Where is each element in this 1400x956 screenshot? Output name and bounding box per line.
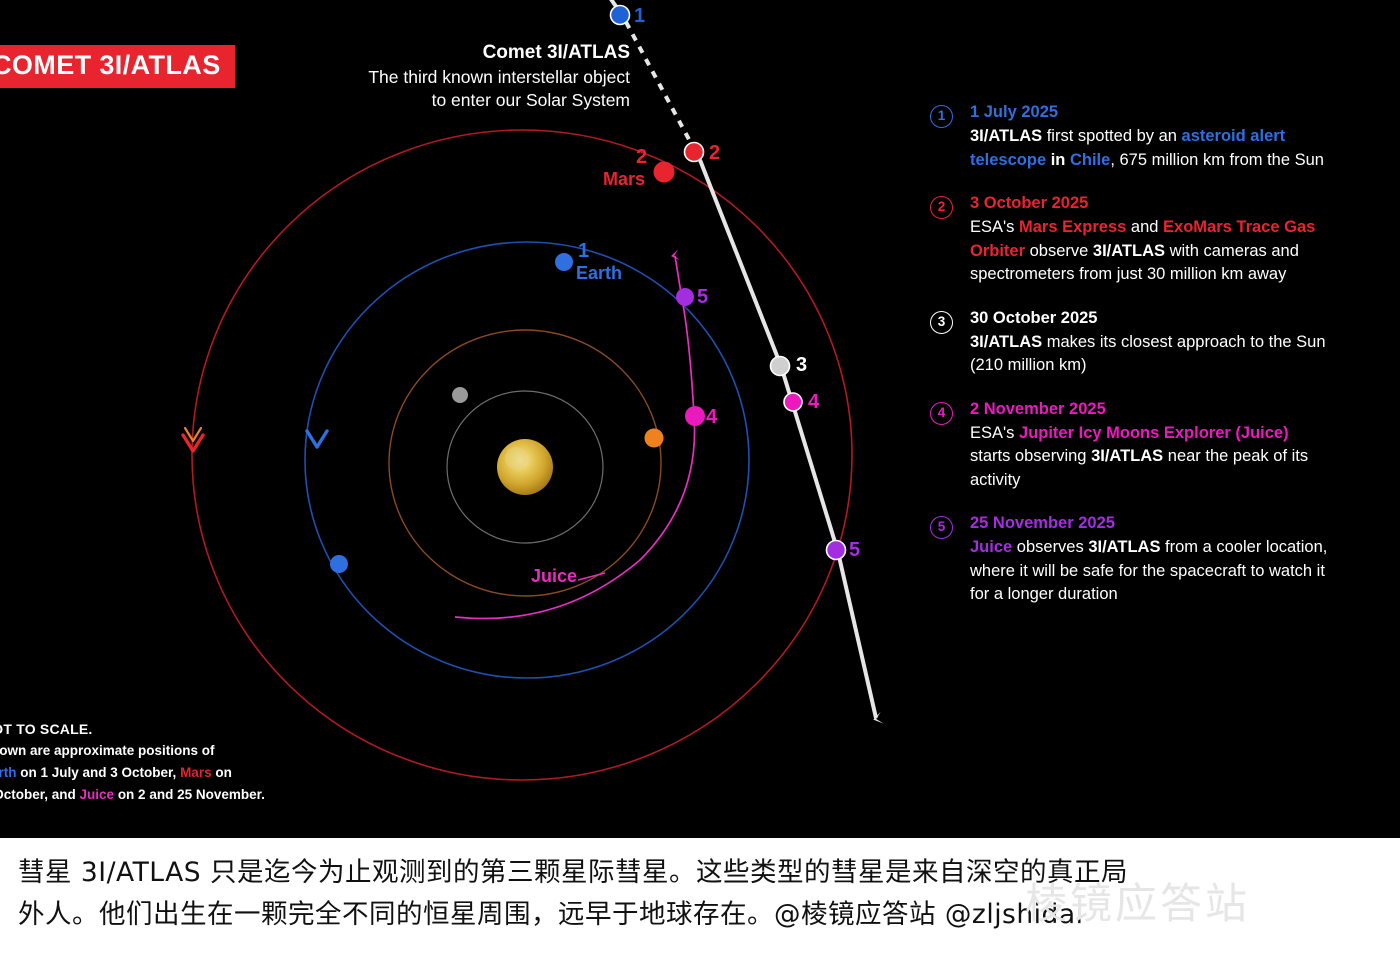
comet-marker-4: [784, 393, 802, 411]
earth-position-3-october: [330, 555, 348, 573]
comet-marker-2: [685, 143, 704, 162]
juice-position-2-november: [685, 406, 705, 426]
comet-marker-5: [827, 541, 846, 560]
comet-marker-number-3: 3: [796, 354, 807, 377]
timeline-entry-4: 42 November 2025ESA's Jupiter Icy Moons …: [930, 397, 1330, 493]
mars-marker-number: 2: [636, 146, 647, 169]
timeline-badge-5: 5: [930, 516, 953, 539]
earth-marker-number: 1: [578, 240, 589, 263]
comet-marker-3: [771, 357, 790, 376]
bottom-caption: 彗星 3I/ATLAS 只是迄今为止观测到的第三颗星际彗星。这些类型的彗星是来自…: [0, 838, 1400, 956]
timeline-entry-3: 330 October 20253I/ATLAS makes its close…: [930, 306, 1330, 378]
timeline-panel: 11 July 20253I/ATLAS first spotted by an…: [930, 100, 1330, 626]
footnote-mars: Mars: [180, 765, 212, 780]
earth-direction-chevron: [307, 431, 327, 447]
venus: [645, 429, 664, 448]
comet-path-solid: [700, 160, 876, 718]
juice-label: Juice: [531, 566, 577, 587]
infographic-root: COMET 3I/ATLAS Comet 3I/ATLAS The third …: [0, 0, 1400, 956]
footnote-line3-mid: on 1 July and 3 October,: [17, 765, 181, 780]
earth-position-1-july: [555, 253, 573, 271]
footnote-juice: Juice: [80, 787, 115, 802]
timeline-date-2: 3 October 2025: [970, 191, 1330, 215]
timeline-body-4: ESA's Jupiter Icy Moons Explorer (Juice)…: [970, 422, 1330, 493]
footnote-line3-end: on: [212, 765, 232, 780]
timeline-entry-2: 23 October 2025ESA's Mars Express and Ex…: [930, 191, 1330, 287]
comet-path-dashed: [626, 22, 700, 160]
timeline-entry-5: 525 November 2025Juice observes 3I/ATLAS…: [930, 511, 1330, 607]
comet-marker-1: [611, 6, 630, 25]
footnote-line4-end: on 2 and 25 November.: [114, 787, 265, 802]
timeline-body-2: ESA's Mars Express and ExoMars Trace Gas…: [970, 216, 1330, 287]
caption-line-2: 外人。他们出生在一颗完全不同的恒星周围，远早于地球存在。@棱镜应答站 @zljs…: [18, 894, 1382, 936]
timeline-badge-3: 3: [930, 311, 953, 334]
juice-position-25-november: [676, 288, 694, 306]
sun: [497, 439, 553, 495]
solar-system-diagram: COMET 3I/ATLAS Comet 3I/ATLAS The third …: [0, 0, 1400, 838]
footnote: NOT TO SCALE. Shown are approximate posi…: [0, 718, 265, 806]
timeline-entry-1: 11 July 20253I/ATLAS first spotted by an…: [930, 100, 1330, 172]
caption-line-1: 彗星 3I/ATLAS 只是迄今为止观测到的第三颗星际彗星。这些类型的彗星是来自…: [18, 852, 1382, 894]
timeline-badge-4: 4: [930, 402, 953, 425]
footnote-line2: Shown are approximate positions of: [0, 740, 265, 762]
comet-caption-line1: The third known interstellar object: [300, 66, 630, 89]
comet-marker-number-1: 1: [634, 5, 645, 28]
mercury: [452, 387, 468, 403]
comet-marker-number-5: 5: [849, 539, 860, 562]
timeline-date-5: 25 November 2025: [970, 511, 1330, 535]
timeline-badge-1: 1: [930, 105, 953, 128]
timeline-body-5: Juice observes 3I/ATLAS from a cooler lo…: [970, 536, 1330, 607]
timeline-body-1: 3I/ATLAS first spotted by an asteroid al…: [970, 125, 1330, 172]
timeline-date-1: 1 July 2025: [970, 100, 1330, 124]
juice-marker-number-4: 4: [706, 406, 717, 429]
timeline-body-3: 3I/ATLAS makes its closest approach to t…: [970, 331, 1330, 378]
mars-label: Mars: [603, 169, 645, 190]
footnote-earth: Earth: [0, 765, 17, 780]
footnote-line4-start: 3 October, and: [0, 787, 80, 802]
mars-position-3-october: [654, 162, 675, 183]
footnote-line3: Earth on 1 July and 3 October, Mars on: [0, 762, 265, 784]
comet-marker-number-2: 2: [709, 142, 720, 165]
comet-caption-line2: to enter our Solar System: [300, 89, 630, 112]
footnote-line4: 3 October, and Juice on 2 and 25 Novembe…: [0, 784, 265, 806]
comet-caption: Comet 3I/ATLAS The third known interstel…: [300, 40, 630, 112]
earth-label: Earth: [576, 263, 622, 284]
page-title-banner: COMET 3I/ATLAS: [0, 45, 235, 88]
comet-caption-title: Comet 3I/ATLAS: [300, 40, 630, 66]
timeline-date-4: 2 November 2025: [970, 397, 1330, 421]
juice-marker-number-5: 5: [697, 286, 708, 309]
timeline-date-3: 30 October 2025: [970, 306, 1330, 330]
comet-marker-number-4: 4: [808, 391, 819, 414]
footnote-line1: NOT TO SCALE.: [0, 718, 265, 740]
timeline-badge-2: 2: [930, 196, 953, 219]
sun-core: [505, 447, 527, 469]
